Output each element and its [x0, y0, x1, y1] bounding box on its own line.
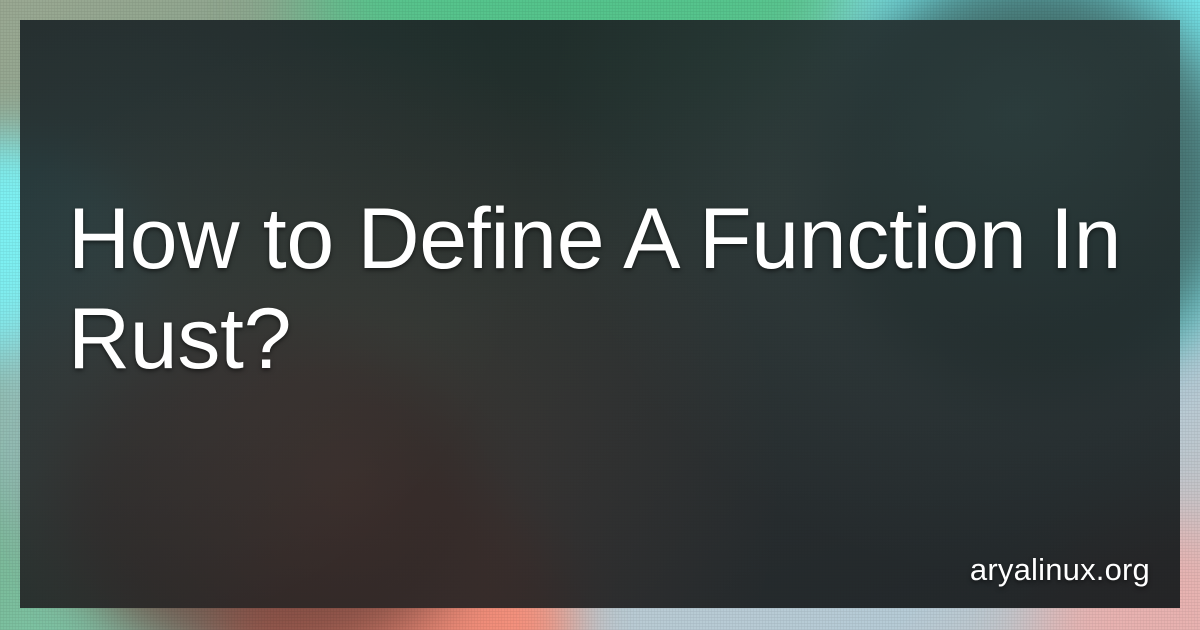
card-content: How to Define A Function In Rust? aryali…	[20, 20, 1180, 608]
dark-overlay-panel: How to Define A Function In Rust? aryali…	[20, 20, 1180, 608]
social-share-card: How to Define A Function In Rust? aryali…	[0, 0, 1200, 630]
site-url-label: aryalinux.org	[970, 552, 1150, 588]
page-title: How to Define A Function In Rust?	[68, 190, 1128, 390]
